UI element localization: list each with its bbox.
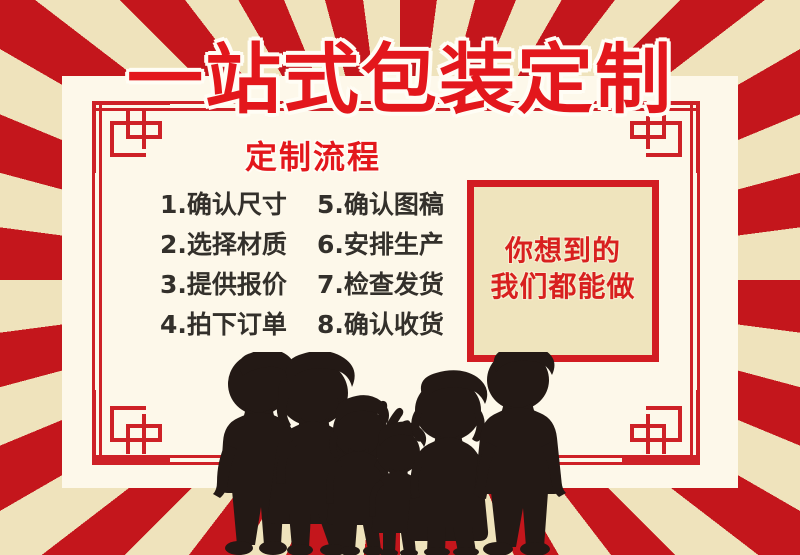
process-step-item: 2.选择材质 [160,228,313,261]
slogan-line-2: 我们都能做 [474,269,652,305]
process-step-item: 4.拍下订单 [160,308,313,341]
slogan-text-wrap: 你想到的 我们都能做 [474,233,652,305]
poster-canvas: 一站式包装定制 定制流程 1.确认尺寸 5.确认图稿 2.选择材质 6.安排生产… [0,0,800,555]
process-step-list: 1.确认尺寸 5.确认图稿 2.选择材质 6.安排生产 3.提供报价 7.检查发… [160,188,470,341]
family-silhouette-icon [0,352,800,555]
process-step-item: 7.检查发货 [317,268,470,301]
section-heading-process: 定制流程 [158,140,468,174]
slogan-box: 你想到的 我们都能做 [467,180,659,362]
process-step-item: 6.安排生产 [317,228,470,261]
slogan-line-1: 你想到的 [474,233,652,269]
process-step-item: 8.确认收货 [317,308,470,341]
process-step-item: 1.确认尺寸 [160,188,313,221]
process-step-item: 5.确认图稿 [317,188,470,221]
process-step-item: 3.提供报价 [160,268,313,301]
silhouette-older-woman [407,370,488,555]
poster-title: 一站式包装定制 [0,42,800,118]
